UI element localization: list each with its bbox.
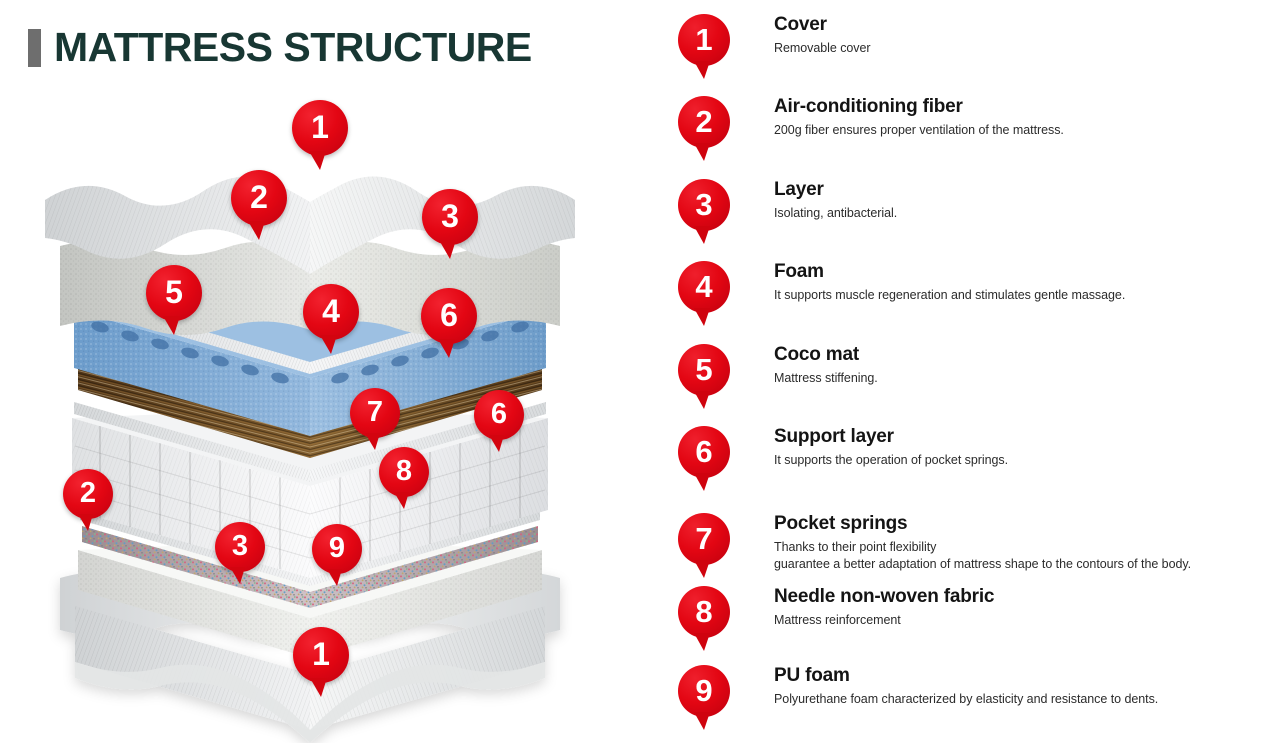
legend-desc-2: 200g fiber ensures proper ventilation of… [774, 122, 1274, 139]
legend-title-9: PU foam [774, 665, 1274, 687]
callout-pin-7-pocket-springs[interactable]: 7 [350, 388, 400, 438]
legend-pin-5[interactable]: 5 [678, 344, 730, 396]
callout-pin-8-needle-fabric[interactable]: 8 [379, 447, 429, 497]
callout-pin-3-isolating-layer[interactable]: 3 [422, 189, 478, 245]
legend-pin-9[interactable]: 9 [678, 665, 730, 717]
legend-text-1: Cover Removable cover [774, 14, 1274, 57]
legend-pin-6[interactable]: 6 [678, 426, 730, 478]
legend-text-2: Air-conditioning fiber 200g fiber ensure… [774, 96, 1274, 139]
legend-title-5: Coco mat [774, 344, 1274, 366]
legend-list: 1 Cover Removable cover 2 Air-conditioni… [672, 0, 1280, 743]
legend-pin-4[interactable]: 4 [678, 261, 730, 313]
legend-desc-8: Mattress reinforcement [774, 612, 1274, 629]
legend-desc-9: Polyurethane foam characterized by elast… [774, 691, 1274, 708]
callout-pin-1-cover-top[interactable]: 1 [292, 100, 348, 156]
legend-title-3: Layer [774, 179, 1274, 201]
legend-pin-3[interactable]: 3 [678, 179, 730, 231]
legend-desc-6: It supports the operation of pocket spri… [774, 452, 1274, 469]
title-accent-bar [28, 29, 41, 67]
legend-desc-5: Mattress stiffening. [774, 370, 1274, 387]
callout-pin-4-blue-foam[interactable]: 4 [303, 284, 359, 340]
page-title: MATTRESS STRUCTURE [54, 27, 532, 68]
legend-text-9: PU foam Polyurethane foam characterized … [774, 665, 1274, 708]
callout-pin-2-air-fiber[interactable]: 2 [231, 170, 287, 226]
mattress-illustration: 1 2 3 5 4 6 7 6 8 2 3 9 1 [0, 78, 640, 743]
legend-desc-3: Isolating, antibacterial. [774, 205, 1274, 222]
legend-title-7: Pocket springs [774, 513, 1274, 535]
callout-pin-5-coco-mat[interactable]: 5 [146, 265, 202, 321]
legend-desc-1: Removable cover [774, 40, 1274, 57]
page-header: MATTRESS STRUCTURE [28, 27, 532, 68]
infographic-root: MATTRESS STRUCTURE [0, 0, 1280, 743]
legend-desc-7: Thanks to their point flexibility guaran… [774, 539, 1274, 574]
legend-pin-8[interactable]: 8 [678, 586, 730, 638]
legend-text-3: Layer Isolating, antibacterial. [774, 179, 1274, 222]
legend-text-7: Pocket springs Thanks to their point fle… [774, 513, 1274, 573]
callout-pin-9-pu-foam[interactable]: 9 [312, 524, 362, 574]
callout-pin-3-isolating-layer-2[interactable]: 3 [215, 522, 265, 572]
legend-pin-1[interactable]: 1 [678, 14, 730, 66]
callout-pin-1-cover-bottom[interactable]: 1 [293, 627, 349, 683]
legend-title-1: Cover [774, 14, 1274, 36]
legend-text-8: Needle non-woven fabric Mattress reinfor… [774, 586, 1274, 629]
legend-desc-4: It supports muscle regeneration and stim… [774, 287, 1274, 304]
legend-title-4: Foam [774, 261, 1274, 283]
legend-text-6: Support layer It supports the operation … [774, 426, 1274, 469]
legend-title-6: Support layer [774, 426, 1274, 448]
callout-pin-2-air-fiber-2[interactable]: 2 [63, 469, 113, 519]
legend-text-4: Foam It supports muscle regeneration and… [774, 261, 1274, 304]
callout-pin-6-support-layer[interactable]: 6 [421, 288, 477, 344]
legend-text-5: Coco mat Mattress stiffening. [774, 344, 1274, 387]
legend-title-2: Air-conditioning fiber [774, 96, 1274, 118]
legend-title-8: Needle non-woven fabric [774, 586, 1274, 608]
legend-pin-7[interactable]: 7 [678, 513, 730, 565]
callout-pin-6-support-layer-2[interactable]: 6 [474, 390, 524, 440]
legend-pin-2[interactable]: 2 [678, 96, 730, 148]
